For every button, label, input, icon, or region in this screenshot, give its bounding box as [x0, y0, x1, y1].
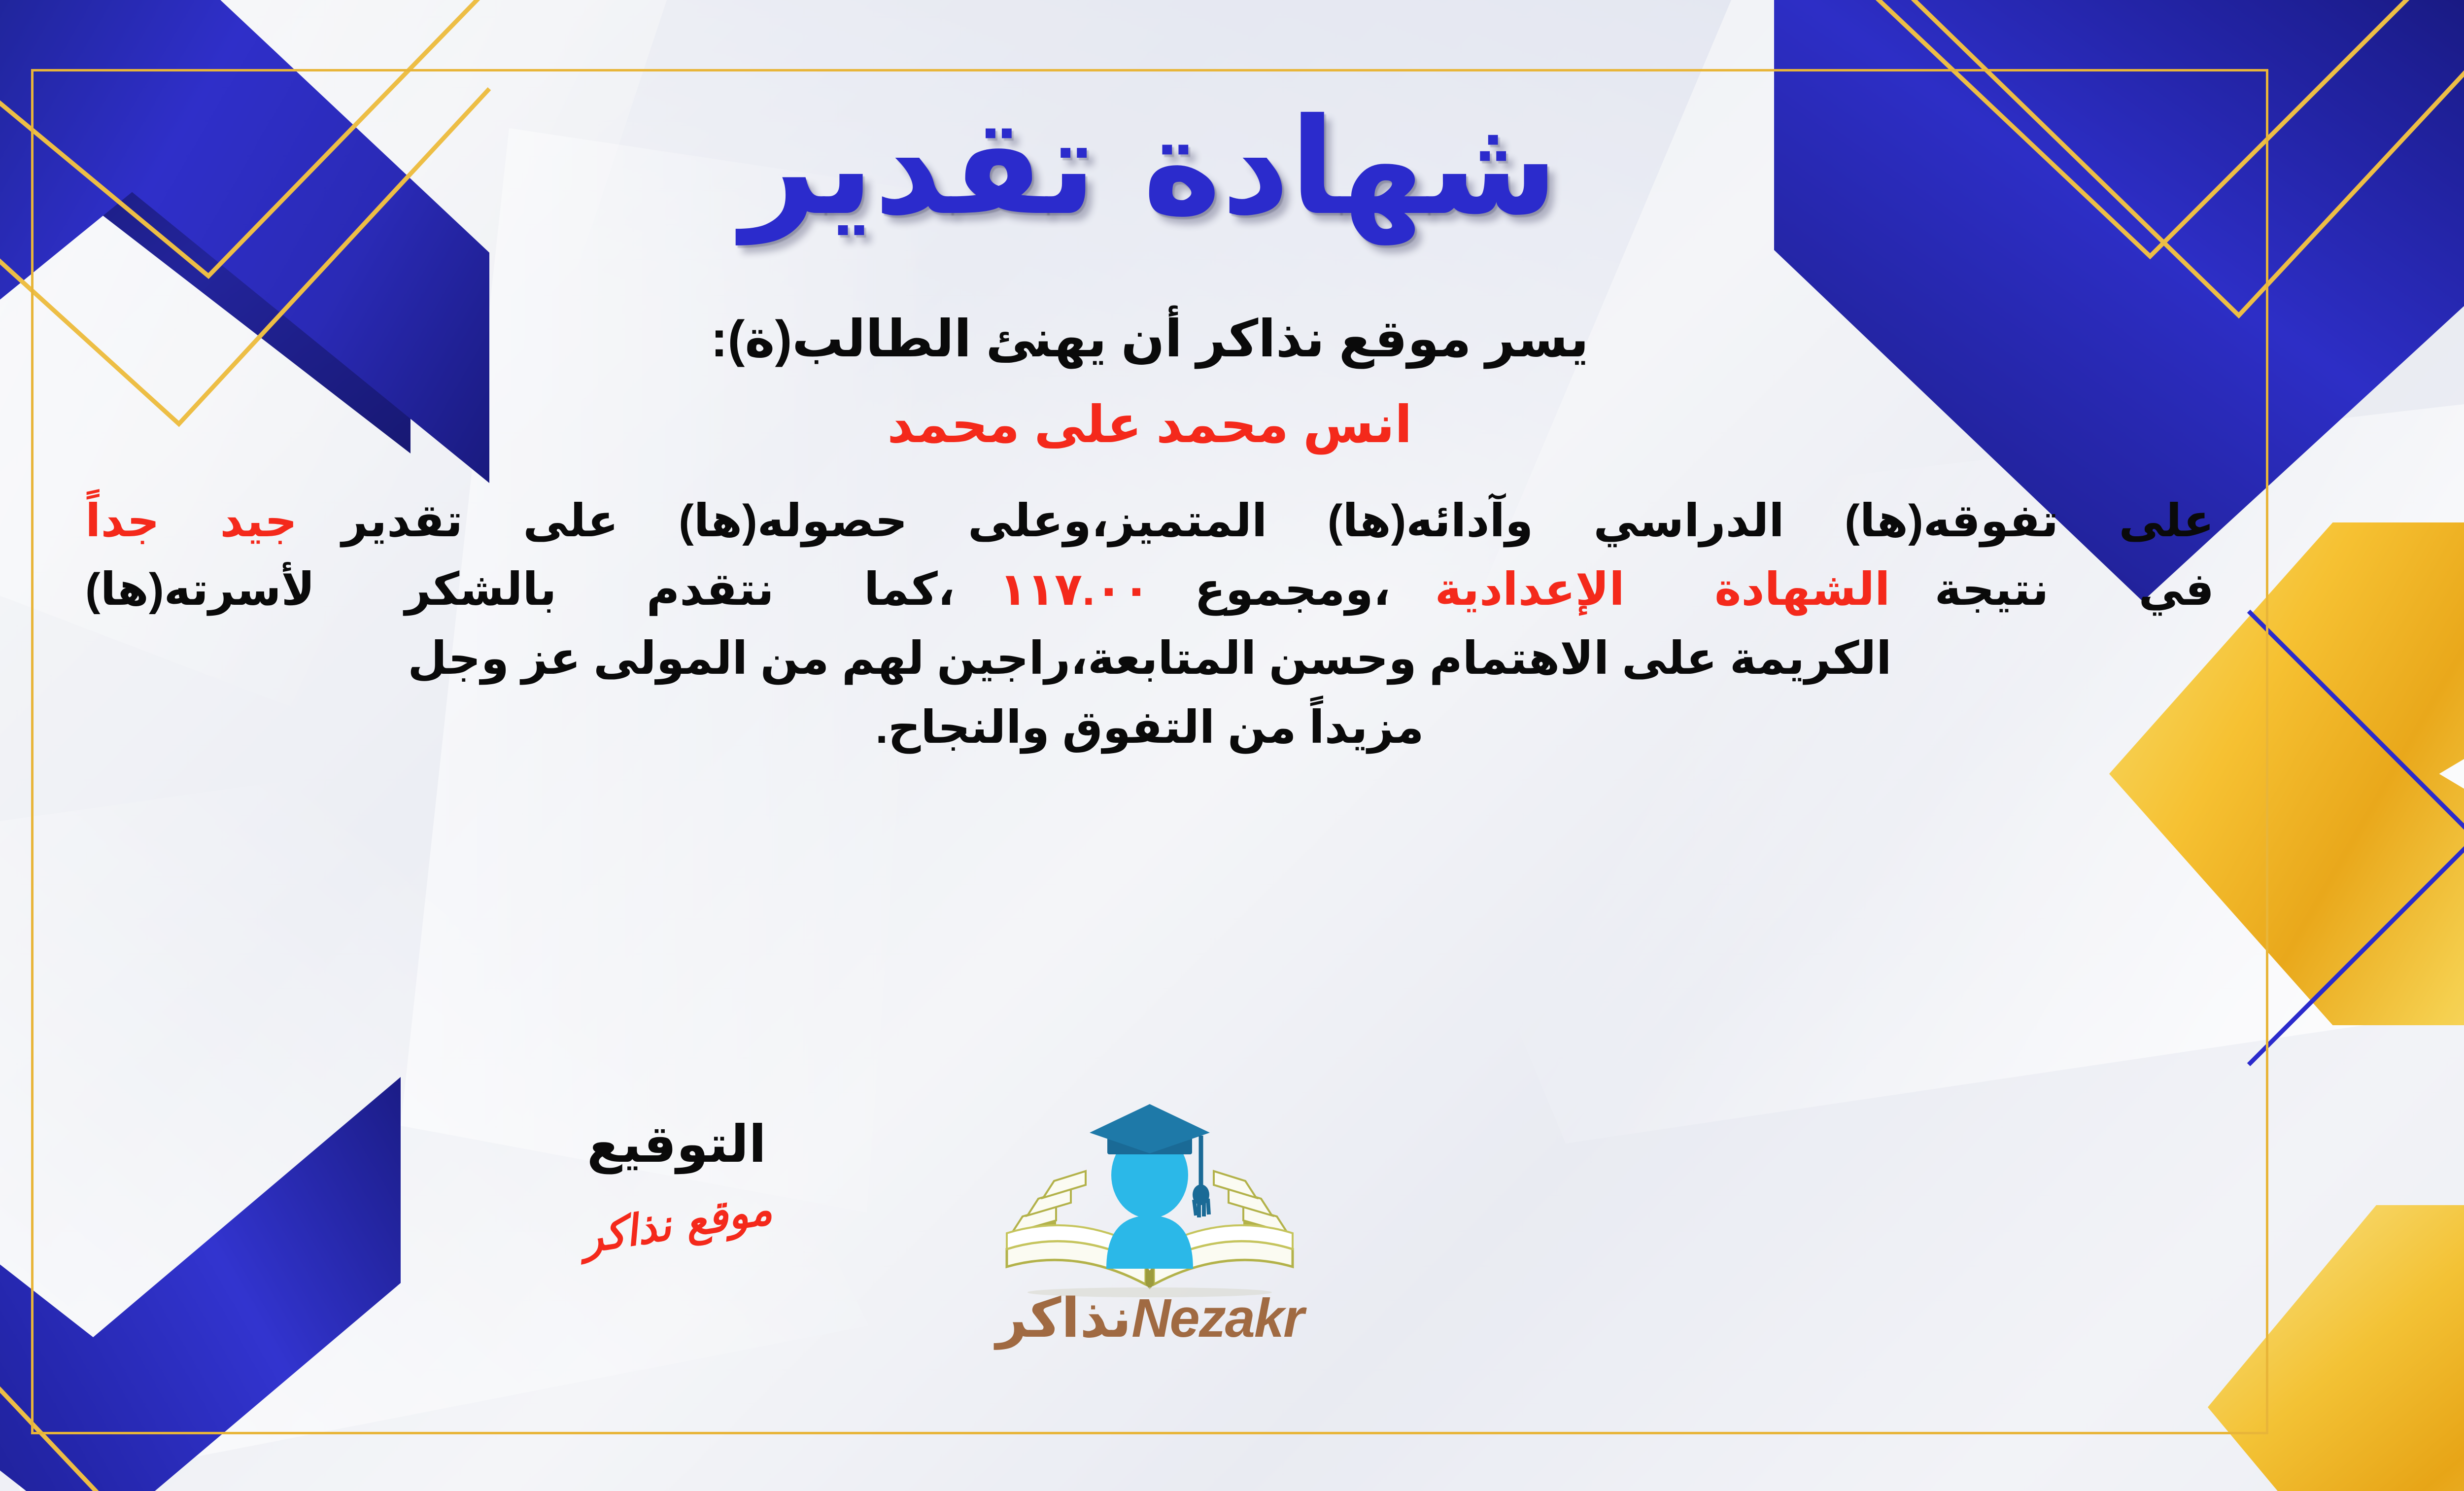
- body-line-4: مزيداً من التفوق والنجاح.: [85, 693, 2214, 763]
- certificate-title: شهادة تقدير: [31, 84, 2268, 250]
- graduation-book-icon: [997, 1101, 1302, 1298]
- certificate-body: على تفوقه(ها) الدراسي وآدائه(ها) المتميز…: [85, 487, 2214, 763]
- logo-latin-text: Nezakr: [1131, 1288, 1303, 1349]
- body-line-2-mid: ،ومجموع: [1195, 564, 1391, 615]
- body-line-2: في نتيجةالشهادة الإعدادية،ومجموع١١٧.٠٠،ك…: [85, 555, 2214, 624]
- certificate-canvas: شهادة تقدير يسر موقع نذاكر أن يهنئ الطال…: [0, 0, 2464, 1491]
- signature-block: التوقيع موقع نذاكر: [489, 1114, 864, 1248]
- certificate-content: شهادة تقدير يسر موقع نذاكر أن يهنئ الطال…: [31, 69, 2268, 1434]
- body-line-2-prefix: في نتيجة: [1935, 564, 2214, 615]
- body-line-3: الكريمة على الاهتمام وحسن المتابعة،راجين…: [85, 624, 2214, 693]
- logo-wordmark: Nezakrنذاكر: [948, 1286, 1352, 1350]
- body-line-1-text: على تفوقه(ها) الدراسي وآدائه(ها) المتميز…: [342, 496, 2214, 546]
- student-name: انس محمد على محمد: [31, 394, 2268, 454]
- exam-name: الشهادة الإعدادية: [1435, 564, 1890, 615]
- body-line-1: على تفوقه(ها) الدراسي وآدائه(ها) المتميز…: [85, 487, 2214, 556]
- body-line-2-suffix: ،كما نتقدم بالشكر لأسرته(ها): [85, 564, 955, 615]
- signature-label: التوقيع: [489, 1114, 864, 1174]
- nezakr-logo: Nezakrنذاكر: [948, 1101, 1352, 1350]
- logo-arabic-text: نذاكر: [996, 1288, 1131, 1349]
- signature-mark: موقع نذاكر: [578, 1184, 775, 1263]
- total-score: ١١٧.٠٠: [999, 564, 1150, 615]
- intro-line: يسر موقع نذاكر أن يهنئ الطالب(ة):: [31, 309, 2268, 369]
- grade-value: جيد جداً: [85, 496, 297, 546]
- certificate-footer: التوقيع موقع نذاكر: [31, 1101, 2268, 1417]
